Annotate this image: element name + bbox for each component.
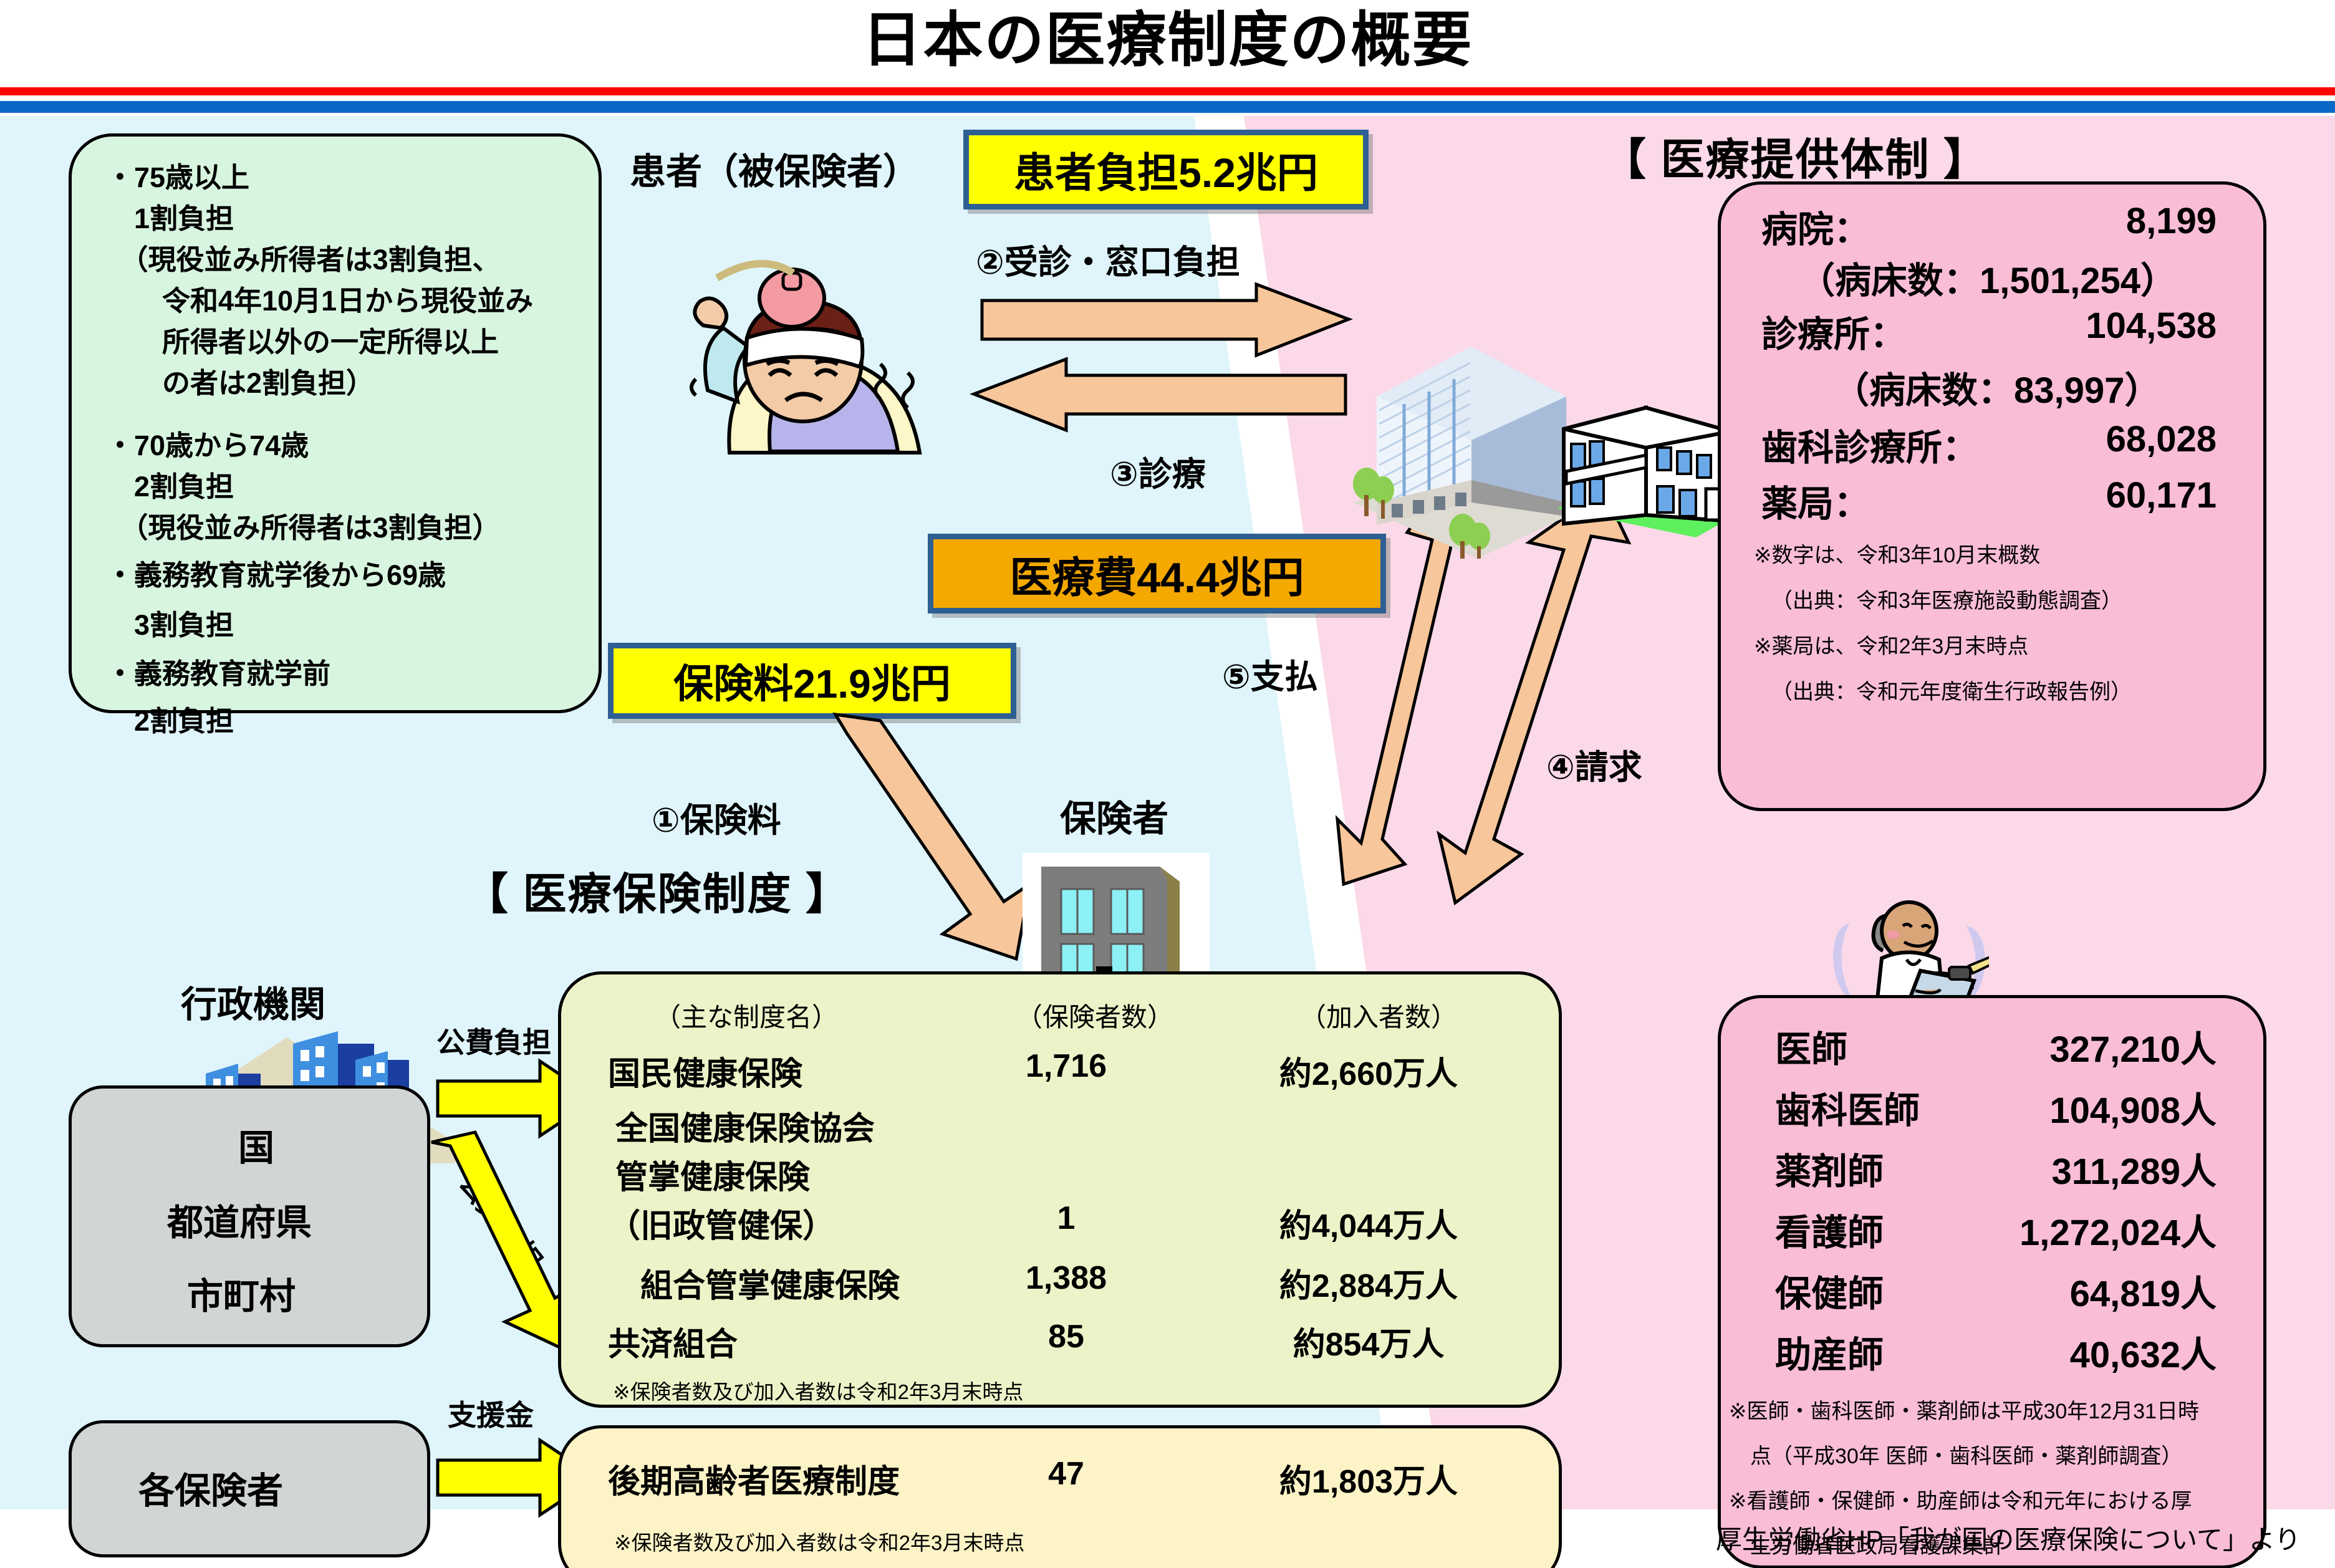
personnel-row-label: 歯科医師 bbox=[1775, 1081, 1920, 1133]
provision-row-label: （病床数：1,501,254） bbox=[1799, 251, 2177, 304]
arrow-premium-flow bbox=[798, 714, 1060, 964]
public-funding-label-1: 公費負担 bbox=[436, 1020, 551, 1061]
copay-line: 2割負担 bbox=[106, 698, 234, 739]
rule-gap bbox=[0, 95, 2335, 101]
patient-label: 患者（被保険者） bbox=[630, 142, 919, 195]
personnel-row-value: 104,908人 bbox=[1948, 1081, 2217, 1133]
each-insurer-label: 各保険者 bbox=[138, 1461, 283, 1514]
government-box-line: 都道府県 bbox=[167, 1193, 312, 1246]
insurance-row-members: 約4,044万人 bbox=[1238, 1200, 1500, 1246]
page-title: 日本の医療制度の概要 bbox=[0, 4, 2335, 77]
personnel-row-label: 看護師 bbox=[1775, 1203, 1884, 1256]
copay-line: 令和4年10月1日から現役並み bbox=[106, 278, 533, 319]
arrow-treatment bbox=[973, 358, 1347, 433]
personnel-row-value: 327,210人 bbox=[1948, 1020, 2217, 1072]
step-3-label: ③診療 bbox=[1110, 446, 1206, 496]
copay-line: ・義務教育就学前 bbox=[106, 651, 330, 691]
flag-medical-cost-label: 医療費44.4兆円 bbox=[1009, 543, 1304, 605]
sick-patient-illustration bbox=[636, 203, 973, 465]
flag-premium-label: 保険料21.9兆円 bbox=[673, 652, 951, 709]
insurance-col-header: （加入者数） bbox=[1300, 996, 1457, 1034]
provision-row-label: 歯科診療所： bbox=[1761, 418, 1978, 471]
provision-row-value: 68,028 bbox=[1992, 418, 2217, 460]
provision-note: （出典：令和元年度衛生行政報告例） bbox=[1771, 675, 2132, 705]
copay-line: （現役並み所得者は3割負担、 bbox=[106, 237, 501, 277]
insurance-row-insurers: 1 bbox=[988, 1200, 1144, 1237]
copay-line: 所得者以外の一定所得以上 bbox=[106, 319, 499, 360]
step-4-label: ④請求 bbox=[1546, 739, 1642, 789]
personnel-row-value: 311,289人 bbox=[1948, 1142, 2217, 1195]
personnel-row-label: 薬剤師 bbox=[1775, 1142, 1884, 1195]
personnel-row-label: 助産師 bbox=[1775, 1325, 1884, 1378]
copay-line: の者は2割負担） bbox=[106, 360, 374, 401]
insurance-table-note: ※保険者数及び加入者数は令和2年3月末時点 bbox=[613, 1375, 1023, 1405]
provision-note: ※薬局は、令和2年3月末時点 bbox=[1754, 629, 2028, 660]
copay-line: ・75歳以上 bbox=[106, 155, 249, 195]
insurance-row-insurers: 1,716 bbox=[988, 1047, 1144, 1085]
provision-note: ※数字は、令和3年10月末概数 bbox=[1754, 538, 2040, 569]
flag-premium: 保険料21.9兆円 bbox=[608, 643, 1016, 719]
copay-line: （現役並み所得者は3割負担） bbox=[106, 505, 501, 546]
flag-patient-burden-label: 患者負担5.2兆円 bbox=[1014, 140, 1318, 200]
copay-line: ・70歳から74歳 bbox=[106, 423, 309, 463]
step-5-label: ⑤支払 bbox=[1222, 649, 1318, 698]
insurance-row-insurers: 1,388 bbox=[988, 1259, 1144, 1297]
rule-blue-line bbox=[0, 101, 2335, 113]
insurance-row-members: 約2,660万人 bbox=[1238, 1047, 1500, 1094]
provision-row-value: 8,199 bbox=[1992, 200, 2217, 242]
personnel-row-value: 1,272,024人 bbox=[1923, 1203, 2217, 1256]
personnel-note: ※看護師・保健師・助産師は令和元年における厚 bbox=[1729, 1484, 2192, 1514]
copay-line: 3割負担 bbox=[106, 602, 234, 643]
personnel-row-label: 医師 bbox=[1775, 1020, 1847, 1072]
copay-line: ・義務教育就学後から69歳 bbox=[106, 552, 446, 593]
insurance-heading: 【 医療保険制度 】 bbox=[465, 859, 850, 922]
insurance-row-insurers: 85 bbox=[988, 1318, 1144, 1355]
provision-row-label: （病床数：83,997） bbox=[1833, 361, 2160, 413]
copay-line: 2割負担 bbox=[106, 464, 234, 504]
provision-heading: 【 医療提供体制 】 bbox=[1602, 125, 1988, 188]
insurance-row-members: 約854万人 bbox=[1238, 1318, 1500, 1365]
provision-row-label: 病院： bbox=[1761, 200, 1870, 253]
source-footer: 厚生労働省HP「我が国の医療保険について」より bbox=[1716, 1519, 2301, 1557]
provision-row-value: 104,538 bbox=[1967, 305, 2217, 347]
insurance-col-header: （主な制度名） bbox=[655, 996, 838, 1034]
provision-row-label: 薬局： bbox=[1761, 474, 1870, 527]
rule-red-line bbox=[0, 87, 2335, 95]
elderly-scheme-members: 約1,803万人 bbox=[1238, 1455, 1500, 1502]
provision-row-value: 60,171 bbox=[1992, 474, 2217, 516]
personnel-note: ※医師・歯科医師・薬剤師は平成30年12月31日時 bbox=[1729, 1394, 2199, 1425]
copay-line: 1割負担 bbox=[106, 196, 234, 236]
personnel-row-value: 40,632人 bbox=[1948, 1325, 2217, 1378]
title-band: 日本の医療制度の概要 bbox=[0, 0, 2335, 100]
personnel-row-label: 保健師 bbox=[1775, 1264, 1884, 1317]
provision-row-label: 診療所： bbox=[1761, 305, 1906, 357]
insurance-col-header: （保険者数） bbox=[1016, 996, 1173, 1034]
insurance-row-name: 共済組合 bbox=[608, 1318, 738, 1365]
insurance-row-members: 約2,884万人 bbox=[1238, 1259, 1500, 1306]
insurer-label: 保険者 bbox=[1060, 789, 1168, 842]
provision-note: （出典：令和3年医療施設動態調査） bbox=[1771, 584, 2122, 614]
flag-patient-burden: 患者負担5.2兆円 bbox=[963, 130, 1369, 209]
arrow-visit-copay bbox=[982, 283, 1350, 358]
insurance-row-name: 管掌健康保険 bbox=[615, 1151, 810, 1198]
insurance-row-name: 国民健康保険 bbox=[608, 1047, 802, 1094]
elderly-scheme-name: 後期高齢者医療制度 bbox=[608, 1455, 900, 1502]
diagram-canvas: ・75歳以上 1割負担 （現役並み所得者は3割負担、 令和4年10月1日から現役… bbox=[0, 116, 2335, 1568]
insurance-row-name: （旧政管健保） bbox=[608, 1200, 835, 1246]
step-2-label: ②受診・窓口負担 bbox=[976, 234, 1240, 284]
flag-medical-cost: 医療費44.4兆円 bbox=[928, 534, 1386, 613]
support-money-label: 支援金 bbox=[448, 1393, 534, 1434]
elderly-scheme-note: ※保険者数及び加入者数は令和2年3月末時点 bbox=[614, 1526, 1024, 1556]
personnel-note: 点（平成30年 医師・歯科医師・薬剤師調査） bbox=[1729, 1439, 2182, 1469]
insurance-row-name: 組合管掌健康保険 bbox=[608, 1259, 900, 1306]
elderly-scheme-insurers: 47 bbox=[988, 1455, 1144, 1493]
government-box-line: 市町村 bbox=[187, 1267, 296, 1319]
insurance-row-name: 全国健康保険協会 bbox=[615, 1102, 875, 1149]
personnel-row-value: 64,819人 bbox=[1948, 1264, 2217, 1317]
government-box-line: 国 bbox=[238, 1118, 274, 1171]
step-1-label: ①保険料 bbox=[652, 792, 781, 842]
